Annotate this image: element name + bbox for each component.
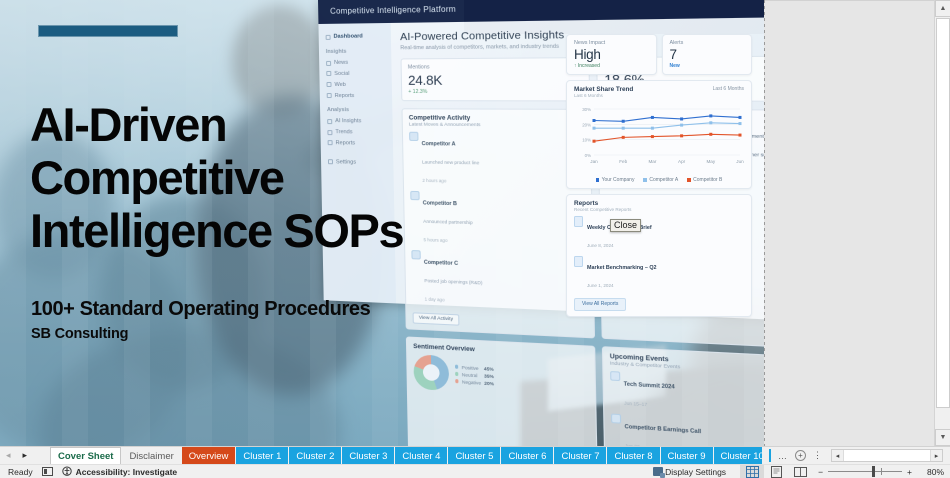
kpi-card-mentions: Mentions 24.8K + 12.3% (401, 57, 591, 101)
calendar-icon (610, 371, 620, 381)
slide-right-edge (764, 0, 765, 446)
reports-title: Reports (574, 200, 744, 207)
zoom-percentage[interactable]: 80% (918, 467, 944, 477)
card-label: News Impact (574, 40, 649, 46)
upcoming-events-panel: Upcoming Events Industry & Competitor Ev… (602, 346, 764, 446)
activity-text: Posted job openings (R&D) (424, 278, 482, 285)
legend-series-2: Competitor B (693, 177, 722, 183)
sheet-tab-cover-sheet[interactable]: Cover Sheet (50, 447, 121, 464)
card-delta: ↑ Increased (574, 63, 649, 69)
sidebar-item-news: News (334, 60, 348, 66)
svg-text:30%: 30% (582, 107, 591, 112)
sentiment-donut-chart (413, 354, 449, 391)
news-impact-card: News Impact High ↑ Increased (566, 34, 657, 75)
title-line-2: Competitive (30, 151, 500, 204)
cover-slide-image[interactable]: Competitive Intelligence Platform Dashbo… (0, 0, 764, 446)
legend-label: Negative (462, 379, 481, 385)
hscroll-left-icon[interactable]: ◂ (832, 450, 844, 461)
svg-text:Apr: Apr (678, 159, 686, 164)
title-line-3: Intelligence SOPs (30, 204, 500, 257)
event-name: Tech Summit 2024 (624, 381, 675, 390)
sidebar-item-social: Social (334, 71, 349, 77)
sheet-nav-buttons[interactable]: ◂ ▸ (0, 447, 50, 464)
sheet-tab-cluster-4[interactable]: Cluster 4 (395, 447, 447, 464)
hscroll-right-icon[interactable]: ▸ (930, 450, 942, 461)
svg-text:Jun: Jun (736, 159, 744, 164)
card-value: High (574, 47, 649, 62)
zoom-slider[interactable]: − + (812, 467, 918, 477)
close-tooltip[interactable]: Close (610, 219, 641, 232)
kpi-delta: + 12.3% (408, 89, 582, 95)
card-value: 7 (670, 47, 745, 62)
sheet-tab-bar[interactable]: ◂ ▸ Cover SheetDisclaimerOverviewCluster… (0, 446, 950, 464)
svg-text:Mar: Mar (648, 159, 656, 164)
activity-time: 1 day ago (425, 296, 445, 302)
zoom-in-button[interactable]: + (907, 467, 912, 477)
normal-view-button[interactable] (740, 465, 764, 478)
vertical-scrollbar[interactable]: ▲ ▼ (934, 0, 950, 446)
sheet-tab-cluster-7[interactable]: Cluster 7 (554, 447, 606, 464)
legend-series-0: Your Company (602, 177, 635, 183)
page-break-view-button[interactable] (788, 465, 812, 478)
event-name: Competitor B Earnings Call (625, 424, 702, 435)
slide-subtitle: 100+ Standard Operating Procedures (31, 298, 370, 321)
more-sheets-icon[interactable]: … (778, 451, 788, 461)
page-break-icon (794, 466, 807, 478)
prev-sheet-icon[interactable]: ◂ (6, 450, 11, 461)
activity-name: Competitor C (424, 260, 458, 267)
legend-value: 35% (484, 373, 494, 379)
slide-title: AI-Driven Competitive Intelligence SOPs (30, 98, 500, 257)
status-ready: Ready (8, 467, 33, 477)
sheet-tab-disclaimer[interactable]: Disclaimer (122, 447, 180, 464)
panel-row-2: Sentiment Overview Positive45% Neutral35… (406, 336, 764, 446)
accessibility-label: Accessibility: Investigate (76, 467, 178, 477)
sidebar-item-dashboard: Dashboard (334, 34, 363, 40)
market-share-line-chart: 0%10%20%30%JanFebMarAprMayJun (574, 101, 744, 175)
document-icon (574, 216, 583, 227)
legend-value: 45% (484, 366, 494, 372)
zoom-out-button[interactable]: − (818, 467, 823, 477)
title-accent-bar (38, 25, 178, 37)
sentiment-legend: Positive45% Neutral35% Negative20% (455, 362, 494, 388)
vertical-scroll-thumb[interactable] (936, 18, 950, 408)
report-date: June 8, 2024 (587, 243, 614, 248)
accessibility-status[interactable]: Accessibility: Investigate (62, 466, 178, 477)
sheet-tab-cluster-9[interactable]: Cluster 9 (661, 447, 713, 464)
sidebar-item-web: Web (334, 82, 345, 88)
display-settings-button[interactable]: Display Settings (653, 467, 726, 477)
sheet-tab-overview[interactable]: Overview (182, 447, 236, 464)
display-settings-label: Display Settings (665, 467, 726, 477)
chart-legend: Your Company Competitor A Competitor B (574, 177, 744, 183)
worksheet-canvas[interactable]: Competitive Intelligence Platform Dashbo… (0, 0, 934, 446)
card-delta: New (670, 63, 745, 69)
sheet-tab-cluster-5[interactable]: Cluster 5 (448, 447, 500, 464)
report-name: Market Benchmarking – Q2 (587, 265, 657, 271)
display-settings-icon (653, 467, 663, 476)
report-date: June 1, 2024 (587, 283, 614, 288)
chart-range-label: Last 6 Months (713, 86, 744, 92)
accessibility-icon (62, 466, 73, 477)
sidebar-group-insights: Insights (326, 48, 384, 55)
sheet-tab-cluster-2[interactable]: Cluster 2 (289, 447, 341, 464)
scroll-up-icon[interactable]: ▲ (935, 0, 950, 17)
scroll-down-icon[interactable]: ▼ (935, 429, 950, 446)
tab-separator (769, 449, 771, 462)
svg-text:20%: 20% (582, 122, 591, 127)
sheet-tabs[interactable]: Cover SheetDisclaimerOverviewCluster 1Cl… (50, 447, 762, 464)
recording-icon[interactable] (42, 466, 53, 477)
status-bar: Ready Accessibility: Investigate Displa (0, 464, 950, 478)
horizontal-scrollbar[interactable]: ◂ ▸ (831, 449, 943, 462)
dashboard-right-cards: News Impact High ↑ Increased Alerts 7 Ne… (566, 34, 752, 322)
kpi-value: 24.8K (408, 72, 582, 88)
svg-text:Feb: Feb (619, 159, 627, 164)
sentiment-panel: Sentiment Overview Positive45% Neutral35… (406, 336, 598, 446)
legend-label: Positive (462, 364, 479, 370)
grid-icon (746, 466, 759, 478)
reports-card: Reports Recent Competitive Reports Weekl… (566, 194, 752, 317)
alerts-card: Alerts 7 New (662, 34, 753, 75)
line-chart-svg: 0%10%20%30%JanFebMarAprMayJun (574, 101, 744, 175)
sheet-tab-controls[interactable]: … + ⋮ ◂ ▸ (762, 447, 950, 464)
market-share-trend-card: Last 6 Months Market Share Trend Last 6 … (566, 80, 752, 189)
next-sheet-icon[interactable]: ▸ (23, 450, 28, 461)
zoom-thumb[interactable] (872, 466, 875, 477)
view-all-activity-button: View All Activity (413, 312, 460, 325)
slide-author: SB Consulting (31, 326, 128, 342)
svg-text:10%: 10% (582, 138, 591, 143)
svg-text:May: May (706, 159, 715, 164)
zoom-track[interactable] (828, 471, 902, 472)
document-icon (574, 256, 583, 267)
page-layout-view-button[interactable] (764, 465, 788, 478)
view-all-reports-button: View All Reports (574, 298, 626, 311)
reports-subtitle: Recent Competitive Reports (574, 207, 744, 212)
excel-window: Competitive Intelligence Platform Dashbo… (0, 0, 950, 478)
chart-subtitle: Last 6 Months (574, 93, 744, 98)
kpi-label: Mentions (408, 63, 582, 70)
svg-text:0%: 0% (585, 153, 591, 158)
legend-label: Neutral (462, 372, 478, 378)
sheet-tab-cluster-8[interactable]: Cluster 8 (607, 447, 659, 464)
calendar-icon (611, 413, 621, 423)
chart-title: Last 6 Months Market Share Trend (574, 86, 744, 93)
add-sheet-icon[interactable]: + (795, 450, 806, 461)
sheet-tab-cluster-6[interactable]: Cluster 6 (501, 447, 553, 464)
svg-text:Jan: Jan (590, 159, 598, 164)
title-line-1: AI-Driven (30, 98, 500, 151)
legend-value: 20% (484, 380, 494, 386)
zoom-tick (881, 468, 882, 475)
sheet-tab-cluster-1[interactable]: Cluster 1 (236, 447, 288, 464)
sheet-tab-cluster-3[interactable]: Cluster 3 (342, 447, 394, 464)
tab-menu-icon[interactable]: ⋮ (813, 450, 822, 461)
page-layout-icon (770, 466, 783, 478)
card-label: Alerts (670, 40, 745, 46)
legend-series-1: Competitor A (649, 177, 678, 183)
sheet-tab-cluster-10[interactable]: Cluster 10 (714, 447, 762, 464)
event-date: Jun 15–17 (624, 400, 647, 407)
